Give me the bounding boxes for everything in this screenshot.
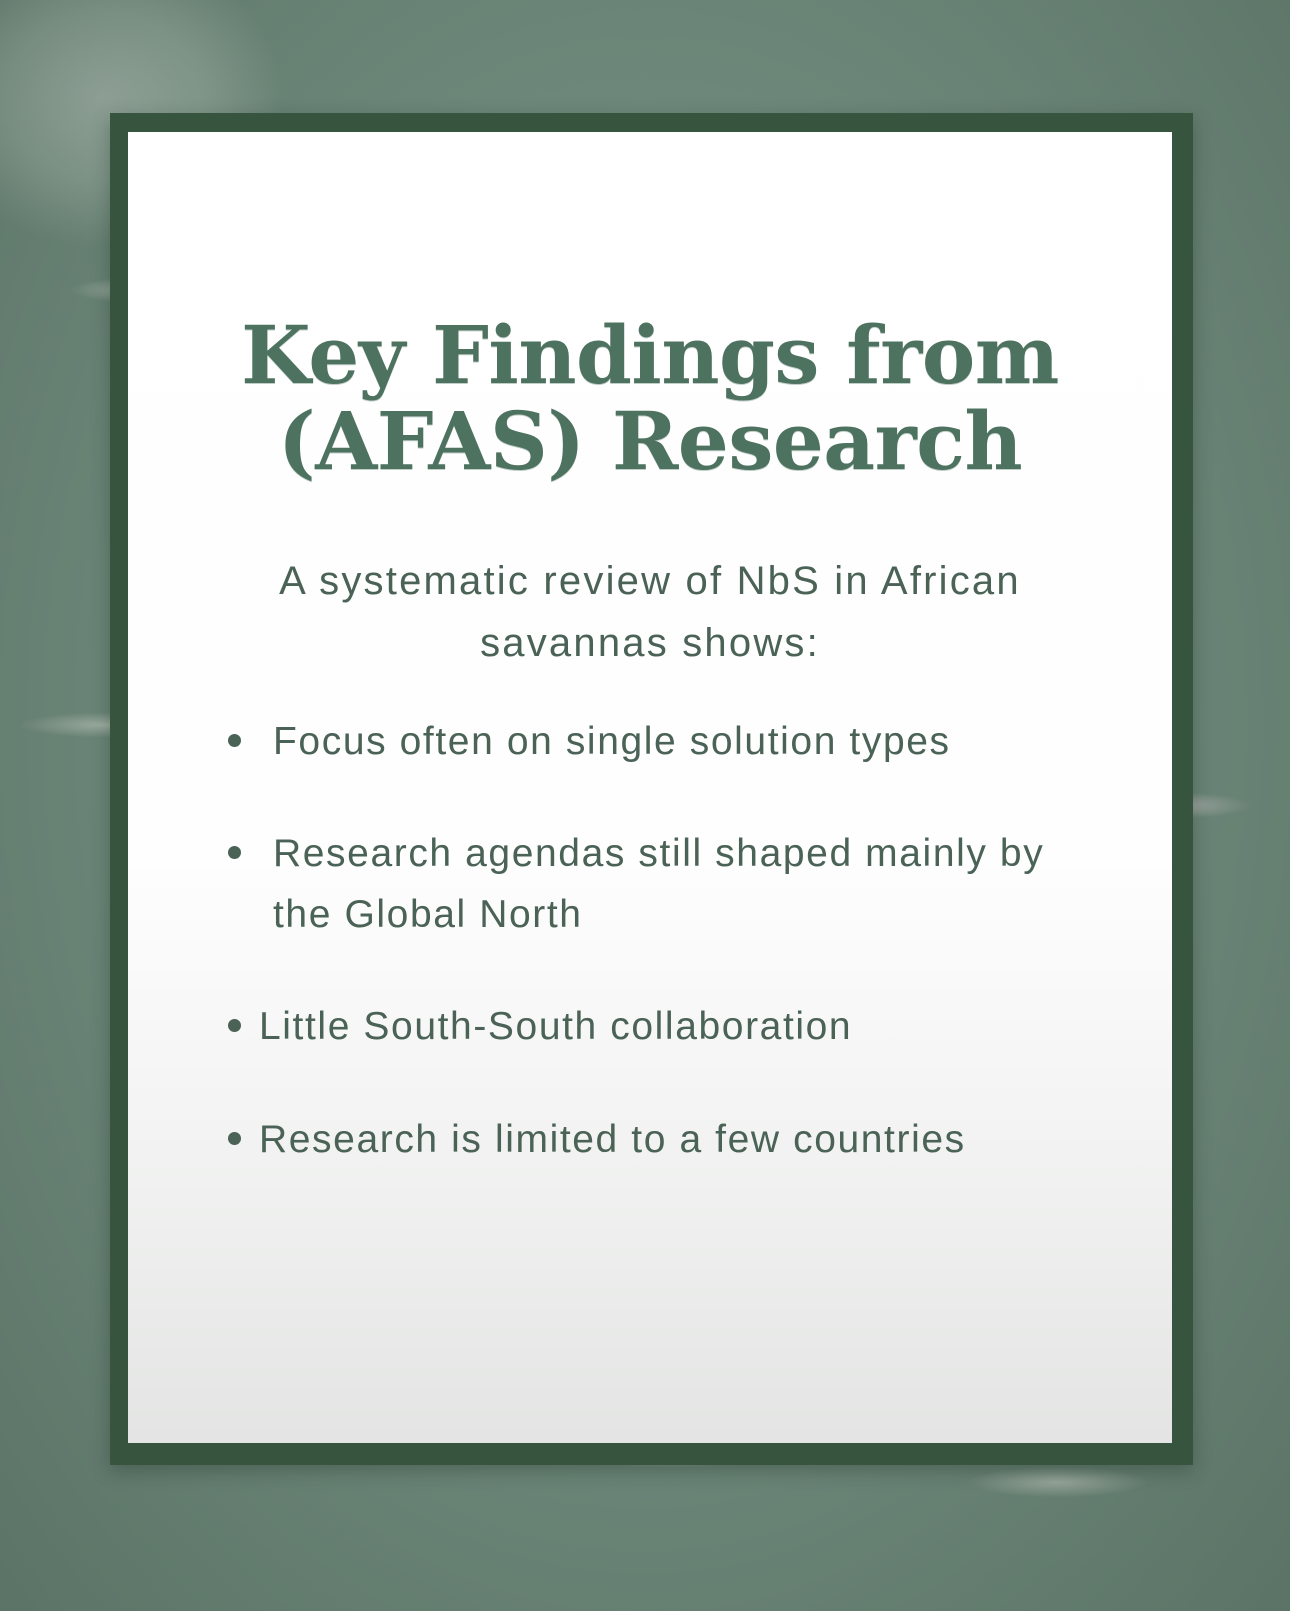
list-item: Focus often on single solution types [228,712,1112,772]
title-line-1: Key Findings from [168,312,1132,398]
title-line-2: (AFAS) Research [168,398,1132,484]
list-item: Research agendas still shaped mainly by … [228,824,1112,945]
key-findings-list: Focus often on single solution types Res… [228,712,1112,1170]
page-title: Key Findings from (AFAS) Research [168,312,1132,485]
bullet-dot-icon [228,1132,241,1145]
bullet-dot-icon [228,846,241,859]
card-content-area: Key Findings from (AFAS) Research A syst… [128,132,1172,1443]
list-item-label: Focus often on single solution types [259,712,951,772]
list-item: Research is limited to a few countries [228,1110,1112,1170]
intro-paragraph: A systematic review of NbS in African sa… [218,550,1082,674]
bullet-dot-icon [228,1019,241,1032]
list-item-label: Research is limited to a few countries [259,1110,966,1170]
green-border-frame: Key Findings from (AFAS) Research A syst… [110,113,1193,1465]
bullet-dot-icon [228,734,241,747]
list-item-label: Little South-South collaboration [259,997,852,1057]
white-content-card: Key Findings from (AFAS) Research A syst… [128,132,1172,1443]
list-item-label: Research agendas still shaped mainly by … [259,824,1112,945]
poster-canvas: Key Findings from (AFAS) Research A syst… [0,0,1290,1611]
list-item: Little South-South collaboration [228,997,1112,1057]
